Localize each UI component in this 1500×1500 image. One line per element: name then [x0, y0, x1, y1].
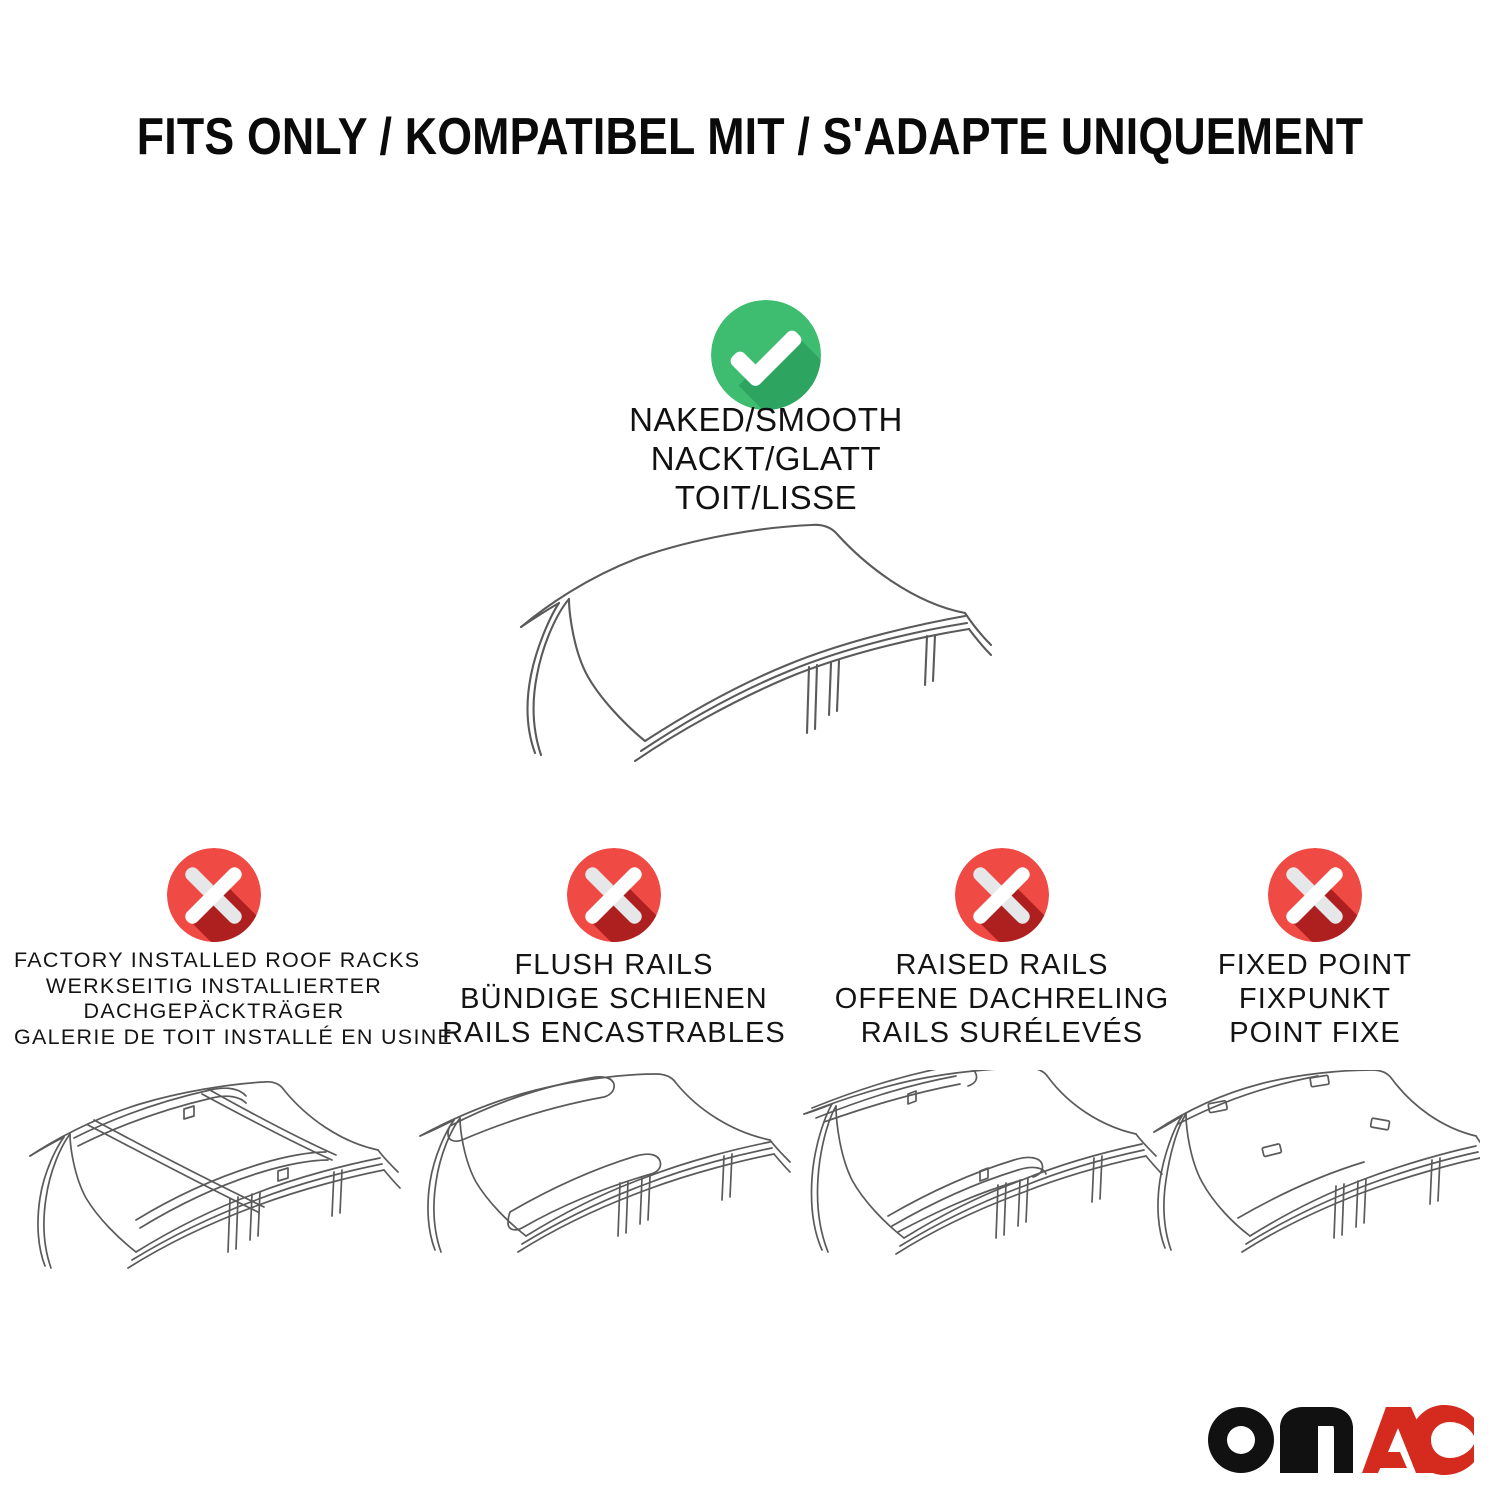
incompatible-label-block: FLUSH RAILS BÜNDIGE SCHIENEN RAILS ENCAS…: [414, 948, 814, 1050]
incompatible-label-block: FIXED POINT FIXPUNKT POINT FIXE: [1150, 948, 1480, 1050]
label-line-3: RAILS SURÉLEVÉS: [802, 1016, 1202, 1050]
check-glyph: [711, 300, 821, 410]
page-title: FITS ONLY / KOMPATIBEL MIT / S'ADAPTE UN…: [105, 108, 1395, 166]
x-circle-icon: [167, 848, 261, 942]
car-roof-naked-smooth-illustration: [495, 515, 1025, 795]
label-line-3: POINT FIXE: [1150, 1016, 1480, 1050]
label-line-1: FLUSH RAILS: [414, 948, 814, 982]
x-circle-icon: [1268, 848, 1362, 942]
label-line-4: GALERIE DE TOIT INSTALLÉ EN USINE: [14, 1025, 414, 1051]
car-roof-factory-roof-racks-illustration: [14, 1070, 414, 1300]
compatible-label-line-3: TOIT/LISSE: [466, 478, 1066, 517]
x-circle-icon: [955, 848, 1049, 942]
compatible-label-line-1: NAKED/SMOOTH: [466, 400, 1066, 439]
x-glyph: [167, 848, 261, 942]
label-line-1: FIXED POINT: [1150, 948, 1480, 982]
car-roof-fixed-point-illustration: [1150, 1070, 1480, 1300]
label-line-2: FIXPUNKT: [1150, 982, 1480, 1016]
car-roof-raised-rails-illustration: [802, 1070, 1202, 1300]
car-roof-flush-rails-illustration: [414, 1070, 814, 1300]
x-glyph: [955, 848, 1049, 942]
fitment-infographic: FITS ONLY / KOMPATIBEL MIT / S'ADAPTE UN…: [0, 0, 1500, 1500]
label-line-1: FACTORY INSTALLED ROOF RACKS: [14, 948, 414, 974]
x-glyph: [567, 848, 661, 942]
label-line-1: RAISED RAILS: [802, 948, 1202, 982]
incompatible-label-block: FACTORY INSTALLED ROOF RACKS WERKSEITIG …: [14, 948, 414, 1050]
check-circle-icon: [711, 300, 821, 410]
compatible-label-block: NAKED/SMOOTH NACKT/GLATT TOIT/LISSE: [466, 400, 1066, 517]
label-line-2: BÜNDIGE SCHIENEN: [414, 982, 814, 1016]
omac-logo: [1204, 1400, 1474, 1478]
incompatible-label-block: RAISED RAILS OFFENE DACHRELING RAILS SUR…: [802, 948, 1202, 1050]
label-line-3: RAILS ENCASTRABLES: [414, 1016, 814, 1050]
x-circle-icon: [567, 848, 661, 942]
x-glyph: [1268, 848, 1362, 942]
label-line-2: OFFENE DACHRELING: [802, 982, 1202, 1016]
compatible-label-line-2: NACKT/GLATT: [466, 439, 1066, 478]
label-line-3: DACHGEPÄCKTRÄGER: [14, 999, 414, 1025]
label-line-2: WERKSEITIG INSTALLIERTER: [14, 974, 414, 1000]
